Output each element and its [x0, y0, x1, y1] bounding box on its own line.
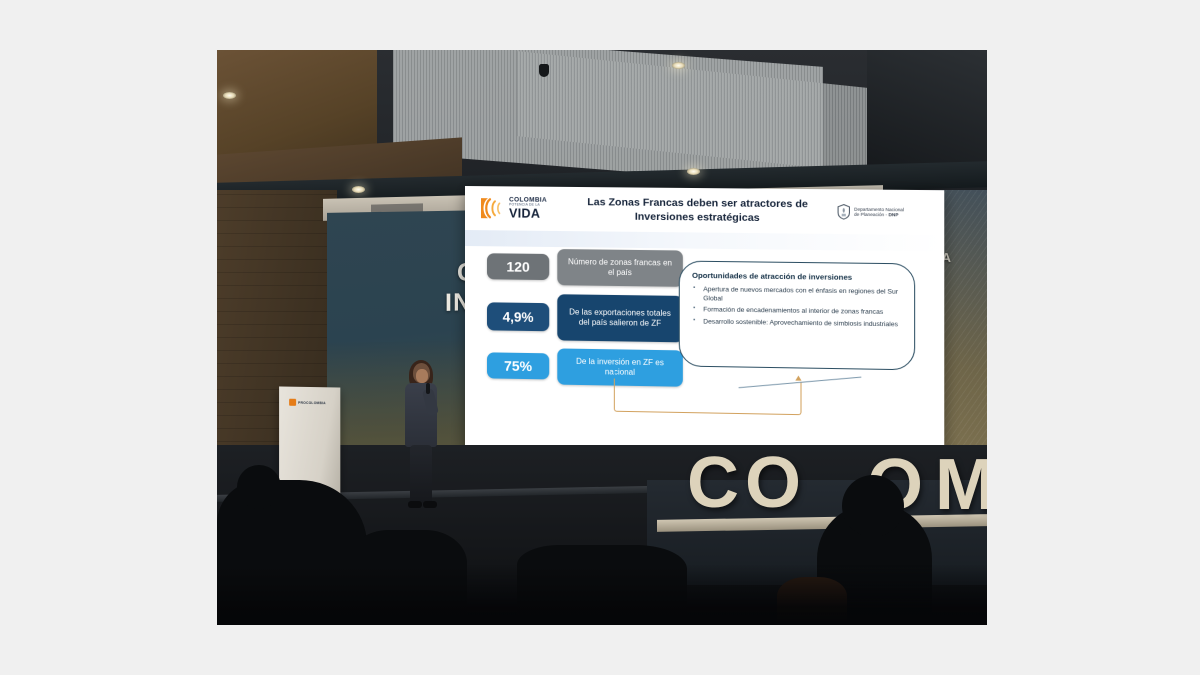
speaker-legs [410, 445, 432, 503]
stat-row: 4,9% De las exportaciones totales del pa… [487, 293, 683, 342]
foreground-shadow [217, 565, 987, 625]
microphone-icon [426, 383, 430, 394]
display-letter: M [935, 449, 987, 521]
wave-icon [479, 196, 505, 220]
conference-photo: COLOMBIACO INVESTMENT SUMMIT CONECTANDO … [217, 50, 987, 625]
speaker-shoe [423, 501, 437, 508]
dnp-logo-text: Departamento Nacional de Planeación - DN… [854, 206, 904, 218]
slide-header: COLOMBIA POTENCIA DE LA VIDA Las Zonas F… [465, 186, 944, 235]
list-item: Desarrollo sostenible: Aprovechamiento d… [692, 318, 902, 330]
speaker-presenter [399, 363, 445, 513]
logo-left-text: COLOMBIA POTENCIA DE LA VIDA [509, 197, 547, 220]
procolombia-logo: PROCOLOMBIA [289, 399, 326, 406]
dnp-logo: Departamento Nacional de Planeación - DN… [837, 204, 932, 221]
dnp-acronym: DNP [888, 212, 898, 217]
stat-value-badge: 4,9% [487, 302, 549, 331]
procolombia-logo-text: PROCOLOMBIA [298, 400, 326, 404]
stat-row: 120 Número de zonas francas en el país [487, 248, 683, 287]
logo-vida-text: VIDA [509, 207, 547, 220]
projection-screen: COLOMBIA POTENCIA DE LA VIDA Las Zonas F… [465, 186, 944, 478]
list-item: Formación de encadenamientos al interior… [692, 307, 902, 319]
display-letter: C [687, 447, 739, 519]
opportunities-panel: Oportunidades de atracción de inversione… [679, 261, 915, 371]
colombia-potencia-de-la-vida-logo: COLOMBIA POTENCIA DE LA VIDA [479, 196, 559, 221]
ceiling-light [687, 168, 700, 175]
opportunities-title: Oportunidades de atracción de inversione… [692, 271, 902, 283]
dnp-line2: de Planeación - DNP [854, 212, 904, 218]
ceiling-light [352, 186, 365, 193]
slide-title: Las Zonas Francas deben ser atractores d… [559, 195, 836, 226]
stat-label-badge: De las exportaciones totales del país sa… [557, 294, 683, 342]
display-letter: O [745, 447, 801, 519]
list-item: Apertura de nuevos mercados con el énfas… [692, 286, 902, 306]
speaker-face [416, 369, 428, 383]
screenshot-canvas: COLOMBIACO INVESTMENT SUMMIT CONECTANDO … [0, 0, 1200, 675]
opportunities-list: Apertura de nuevos mercados con el énfas… [692, 286, 902, 330]
stat-label-badge: Número de zonas francas en el país [557, 249, 683, 287]
ceiling-light [223, 92, 236, 99]
stat-value-badge: 120 [487, 253, 549, 280]
speaker-shoe [408, 501, 422, 508]
audience-member-head [842, 475, 904, 537]
ceiling-sensor-icon [539, 64, 549, 77]
ceiling-light [672, 62, 685, 69]
connector-arrow-icon [795, 376, 801, 381]
ceiling-right-dark [867, 50, 987, 180]
dnp-line2-text: de Planeación - [854, 212, 888, 217]
audience-member-head [237, 465, 281, 509]
slide-body: 120 Número de zonas francas en el país 4… [465, 230, 944, 451]
shield-icon [837, 204, 851, 220]
stat-value-badge: 75% [487, 352, 549, 379]
procolombia-mark-icon [289, 399, 296, 406]
